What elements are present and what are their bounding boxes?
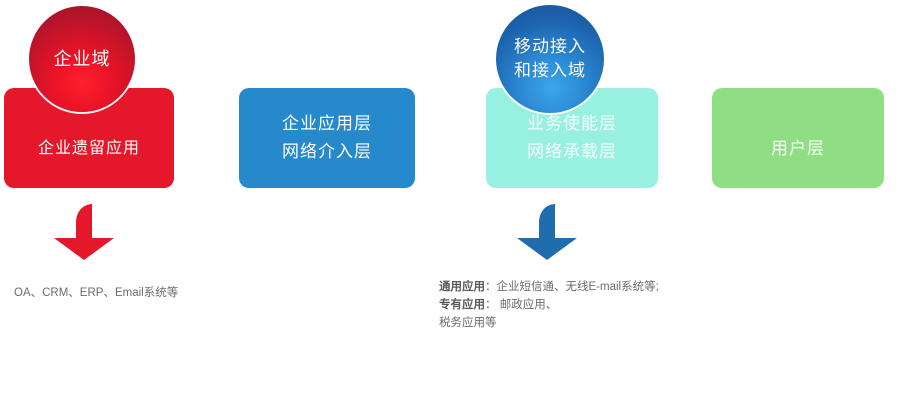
diagram-column-mobile-access-domain: 企业应用层 网络介入层 移动接入 和接入域 通用应用：企业短信通、无线E-mai… — [223, 0, 448, 404]
caption-line: OA、CRM、ERP、Email系统等 — [14, 284, 178, 302]
diagram-column-user-domain: 用户层 用户域 终端用户,包括企业客户、 供应链合作伙伴、企业员工 — [688, 0, 900, 404]
layer-panel-line: 业务使能层 — [527, 110, 617, 138]
layer-panel-line: 用户层 — [771, 135, 825, 163]
domain-bubble-label: 企业域 — [54, 47, 111, 71]
domain-bubble-label: 移动接入 — [514, 35, 586, 59]
layer-panel-line: 网络承载层 — [527, 138, 617, 166]
layer-panel-user-domain[interactable]: 用户层 — [712, 88, 884, 188]
down-arrow-icon — [511, 202, 583, 262]
caption-enterprise-domain: OA、CRM、ERP、Email系统等 — [14, 284, 178, 302]
diagram-column-enterprise-domain: 企业遗留应用 企业域 OA、CRM、ERP、Email系统等 — [0, 0, 225, 404]
layer-panel-line: 企业遗留应用 — [38, 135, 140, 163]
down-arrow-icon — [48, 202, 120, 262]
layer-panel-mobile-access-domain[interactable]: 企业应用层 网络介入层 — [239, 88, 415, 188]
domain-bubble-mobile-access-domain[interactable]: 移动接入 和接入域 — [496, 5, 604, 113]
domain-bubble-label: 和接入域 — [514, 59, 586, 83]
domain-bubble-enterprise-domain[interactable]: 企业域 — [29, 6, 135, 112]
layer-panel-line: 企业应用层 — [282, 110, 372, 138]
layer-panel-line: 网络介入层 — [282, 138, 372, 166]
diagram-canvas: 企业遗留应用 企业域 OA、CRM、ERP、Email系统等 企业应用层 网络介… — [0, 0, 900, 404]
